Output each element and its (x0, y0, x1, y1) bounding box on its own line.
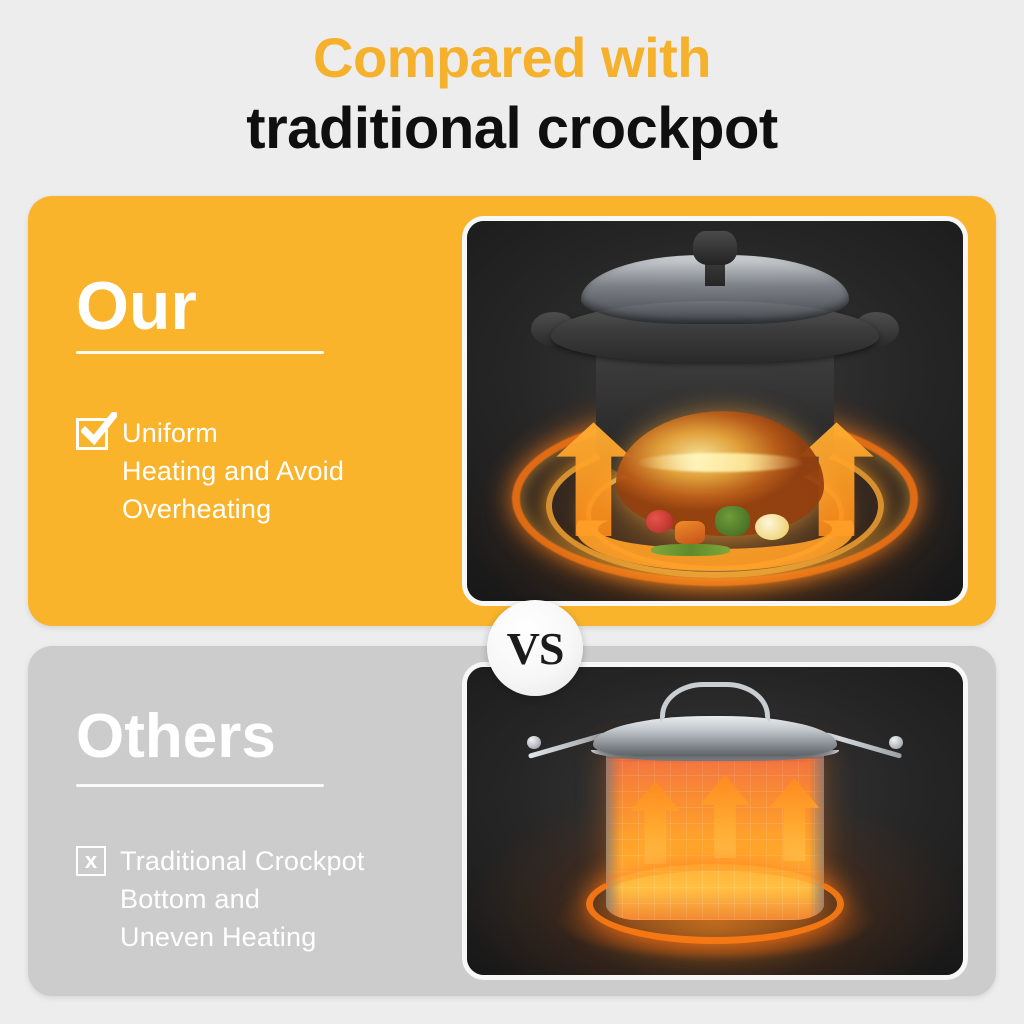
stockpot-handle-knob-right (889, 736, 903, 750)
others-heading: Others (76, 706, 276, 768)
check-mark-icon (81, 412, 117, 448)
cross-mark-icon: x (78, 848, 104, 874)
vegetable-carrot (675, 521, 705, 544)
others-feature-row: x Traditional Crockpot Bottom and Uneven… (76, 842, 365, 956)
comparison-panel-others: Others x Traditional Crockpot Bottom and… (28, 646, 996, 996)
our-feature-row: Uniform Heating and Avoid Overheating (76, 414, 344, 528)
our-product-image (462, 216, 968, 606)
stockpot-handle-knob-left (527, 736, 541, 750)
others-product-image (462, 662, 968, 980)
vegetable-tomato (646, 510, 673, 533)
stockpot-bottom-glow-ring (586, 864, 844, 944)
comparison-panel-our: Our Uniform Heating and Avoid Overheatin… (28, 196, 996, 626)
cross-box-icon: x (76, 846, 106, 876)
stockpot-handle-right (824, 729, 903, 769)
stockpot-lid (593, 716, 836, 756)
our-panel-text-column: Our Uniform Heating and Avoid Overheatin… (76, 196, 466, 626)
slow-cooker-illustration (467, 221, 963, 601)
others-feature-text: Traditional Crockpot Bottom and Uneven H… (120, 842, 365, 956)
stockpot-illustration (467, 667, 963, 975)
our-heading-rule (76, 351, 324, 354)
versus-badge: VS (487, 600, 583, 696)
headline-line-1: Compared with (0, 30, 1024, 86)
roast-chicken-highlight (636, 453, 805, 472)
our-heading: Our (76, 272, 197, 340)
stockpot-lid-handle (660, 682, 769, 722)
infographic-canvas: Compared with traditional crockpot Our U… (0, 0, 1024, 1024)
page-title: Compared with traditional crockpot (0, 30, 1024, 158)
vegetable-broccoli (715, 506, 750, 536)
our-feature-text: Uniform Heating and Avoid Overheating (122, 414, 344, 528)
versus-label: VS (507, 622, 564, 675)
headline-line-2: traditional crockpot (0, 100, 1024, 158)
checkbox-icon (76, 418, 108, 450)
others-heading-rule (76, 784, 324, 787)
others-panel-text-column: Others x Traditional Crockpot Bottom and… (76, 646, 466, 996)
vegetable-peas (651, 544, 730, 556)
stockpot-handle-left (527, 729, 606, 769)
slow-cooker-lid-knob (693, 231, 738, 265)
